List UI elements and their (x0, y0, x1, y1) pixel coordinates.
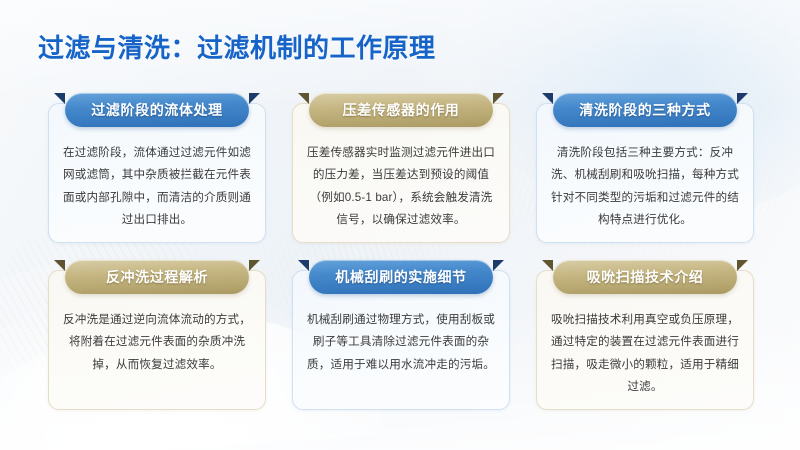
ribbon-wing-right-icon (493, 93, 504, 104)
ribbon-wing-left-icon (298, 260, 309, 271)
ribbon-wing-right-icon (737, 260, 748, 271)
card-banner: 过滤阶段的流体处理 (65, 93, 249, 127)
card-heading: 清洗阶段的三种方式 (553, 93, 737, 127)
card-differential-pressure-sensor-role[interactable]: 压差传感器的作用 压差传感器实时监测过滤元件进出口的压力差，当压差达到预设的阈值… (292, 103, 510, 243)
card-body-text: 在过滤阶段，流体通过过滤元件如滤网或滤筒，其中杂质被拦截在元件表面或内部孔隙中，… (60, 142, 254, 231)
card-heading: 反冲洗过程解析 (65, 260, 249, 294)
ribbon-wing-left-icon (542, 260, 553, 271)
ribbon-wing-left-icon (542, 93, 553, 104)
card-suction-scanning-technology[interactable]: 吸吮扫描技术介绍 吸吮扫描技术利用真空或负压原理，通过特定的装置在过滤元件表面进… (536, 270, 754, 410)
card-body-text: 压差传感器实时监测过滤元件进出口的压力差，当压差达到预设的阈值（例如0.5-1 … (304, 142, 498, 231)
ribbon-wing-right-icon (737, 93, 748, 104)
ribbon-wing-left-icon (54, 260, 65, 271)
card-grid: 过滤阶段的流体处理 在过滤阶段，流体通过过滤元件如滤网或滤筒，其中杂质被拦截在元… (48, 103, 755, 410)
ribbon-wing-right-icon (493, 260, 504, 271)
card-heading: 过滤阶段的流体处理 (65, 93, 249, 127)
card-heading: 机械刮刷的实施细节 (309, 260, 493, 294)
card-banner: 清洗阶段的三种方式 (553, 93, 737, 127)
slide-canvas: 过滤与清洗：过滤机制的工作原理 过滤阶段的流体处理 在过滤阶段，流体通过过滤元件… (0, 0, 800, 450)
card-cleaning-stage-three-methods[interactable]: 清洗阶段的三种方式 清洗阶段包括三种主要方式：反冲洗、机械刮刷和吸吮扫描，每种方… (536, 103, 754, 243)
card-banner: 吸吮扫描技术介绍 (553, 260, 737, 294)
ribbon-wing-right-icon (249, 93, 260, 104)
card-banner: 压差传感器的作用 (309, 93, 493, 127)
card-body-text: 反冲洗是通过逆向流体流动的方式，将附着在过滤元件表面的杂质冲洗掉，从而恢复过滤效… (60, 309, 254, 376)
card-body-text: 清洗阶段包括三种主要方式：反冲洗、机械刮刷和吸吮扫描，每种方式针对不同类型的污垢… (548, 142, 742, 231)
card-banner: 反冲洗过程解析 (65, 260, 249, 294)
card-backwash-process-analysis[interactable]: 反冲洗过程解析 反冲洗是通过逆向流体流动的方式，将附着在过滤元件表面的杂质冲洗掉… (48, 270, 266, 410)
card-mechanical-scraping-details[interactable]: 机械刮刷的实施细节 机械刮刷通过物理方式，使用刮板或刷子等工具清除过滤元件表面的… (292, 270, 510, 410)
ribbon-wing-left-icon (298, 93, 309, 104)
card-heading: 吸吮扫描技术介绍 (553, 260, 737, 294)
card-heading: 压差传感器的作用 (309, 93, 493, 127)
ribbon-wing-left-icon (54, 93, 65, 104)
page-title: 过滤与清洗：过滤机制的工作原理 (38, 28, 436, 65)
card-body-text: 吸吮扫描技术利用真空或负压原理，通过特定的装置在过滤元件表面进行扫描，吸走微小的… (548, 309, 742, 398)
card-filtration-stage-fluid-handling[interactable]: 过滤阶段的流体处理 在过滤阶段，流体通过过滤元件如滤网或滤筒，其中杂质被拦截在元… (48, 103, 266, 243)
card-body-text: 机械刮刷通过物理方式，使用刮板或刷子等工具清除过滤元件表面的杂质，适用于难以用水… (304, 309, 498, 376)
ribbon-wing-right-icon (249, 260, 260, 271)
card-banner: 机械刮刷的实施细节 (309, 260, 493, 294)
